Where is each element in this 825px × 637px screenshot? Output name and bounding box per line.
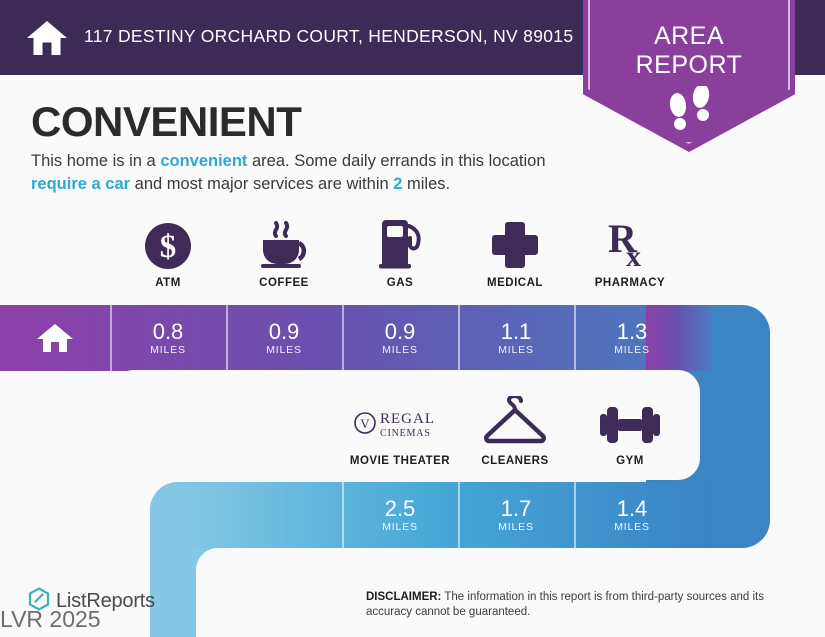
amenity-gas: GAS <box>342 218 458 289</box>
amenity-icon-row-2: V REGAL CINEMAS MOVIE THEATER CLEANERS <box>342 396 688 482</box>
distance-bar-row-2: 2.5 MILES 1.7 MILES 1.4 MILES <box>150 482 770 548</box>
amenity-label: COFFEE <box>226 277 342 289</box>
coffee-cup-icon <box>226 218 342 270</box>
distance-cell-gas: 0.9 MILES <box>342 305 458 371</box>
summary-part-2: area. Some daily errands in this locatio… <box>247 152 545 170</box>
property-address: 117 DESTINY ORCHARD COURT, HENDERSON, NV… <box>84 26 573 47</box>
summary-part-3: and most major services are within <box>130 175 393 193</box>
summary-highlight-require-a-car: require a car <box>31 175 130 193</box>
clothes-hanger-icon <box>457 396 573 448</box>
amenity-label: GYM <box>572 455 688 467</box>
svg-text:x: x <box>626 240 641 270</box>
footprints-icon <box>655 86 725 132</box>
badge-line-2: REPORT <box>583 51 795 80</box>
amenity-label: ATM <box>110 277 226 289</box>
svg-text:REGAL: REGAL <box>380 411 435 427</box>
gas-pump-icon <box>342 218 458 270</box>
distance-value: 1.3 <box>617 320 648 343</box>
distance-value: 0.9 <box>385 320 416 343</box>
distance-value: 2.5 <box>385 497 416 520</box>
distance-cell-movie-theater: 2.5 MILES <box>342 482 458 548</box>
summary-part-4: miles. <box>402 175 450 193</box>
distance-cell-coffee: 0.9 MILES <box>226 305 342 371</box>
distance-value: 1.4 <box>617 497 648 520</box>
amenity-pharmacy: R x PHARMACY <box>572 218 688 289</box>
amenity-gym: GYM <box>572 396 688 467</box>
amenity-label: GAS <box>342 277 458 289</box>
distance-unit: MILES <box>266 344 302 356</box>
distance-unit: MILES <box>150 344 186 356</box>
summary-highlight-convenient: convenient <box>160 152 247 170</box>
distance-unit: MILES <box>614 521 650 533</box>
amenity-icon-row-1: $ ATM COFFEE <box>110 218 688 303</box>
amenity-coffee: COFFEE <box>226 218 342 289</box>
dumbbell-icon <box>572 396 688 448</box>
svg-text:CINEMAS: CINEMAS <box>380 428 431 439</box>
amenity-label: MEDICAL <box>457 277 573 289</box>
amenity-movie-theater: V REGAL CINEMAS MOVIE THEATER <box>342 396 458 467</box>
distance-value: 1.1 <box>501 320 532 343</box>
distance-unit: MILES <box>614 344 650 356</box>
dollar-circle-icon: $ <box>110 218 226 270</box>
disclaimer: DISCLAIMER: The information in this repo… <box>366 590 796 620</box>
home-icon <box>36 321 74 355</box>
amenity-label: PHARMACY <box>572 277 688 289</box>
distance-value: 1.7 <box>501 497 532 520</box>
distance-cell-pharmacy: 1.3 MILES <box>574 305 690 371</box>
distance-cell-atm: 0.8 MILES <box>110 305 226 371</box>
distance-unit: MILES <box>498 344 534 356</box>
summary-part-1: This home is in a <box>31 152 160 170</box>
badge-line-1: AREA <box>583 22 795 51</box>
amenity-cleaners: CLEANERS <box>457 396 573 467</box>
distance-value: 0.9 <box>269 320 300 343</box>
amenity-label: CLEANERS <box>457 455 573 467</box>
amenity-medical: MEDICAL <box>457 218 573 289</box>
distance-value: 0.8 <box>153 320 184 343</box>
disclaimer-label: DISCLAIMER: <box>366 591 441 603</box>
area-report-page: 117 DESTINY ORCHARD COURT, HENDERSON, NV… <box>0 0 825 637</box>
medical-cross-icon <box>457 218 573 270</box>
rx-icon: R x <box>572 218 688 270</box>
distance-cell-medical: 1.1 MILES <box>458 305 574 371</box>
distance-unit: MILES <box>498 521 534 533</box>
amenity-atm: $ ATM <box>110 218 226 289</box>
distance-unit: MILES <box>382 521 418 533</box>
amenity-label: MOVIE THEATER <box>342 455 458 467</box>
distance-cell-gym: 1.4 MILES <box>574 482 690 548</box>
distance-cell-cleaners: 1.7 MILES <box>458 482 574 548</box>
page-title: CONVENIENT <box>31 98 301 146</box>
svg-text:$: $ <box>160 229 177 265</box>
svg-text:V: V <box>360 416 370 431</box>
badge-label: AREA REPORT <box>583 22 795 80</box>
regal-cinemas-logo: V REGAL CINEMAS <box>342 396 458 448</box>
summary-text: This home is in a convenient area. Some … <box>31 150 561 196</box>
watermark: LVR 2025 <box>0 606 101 633</box>
distance-unit: MILES <box>382 344 418 356</box>
home-icon <box>25 16 69 60</box>
distance-bar-row-1: 0.8 MILES 0.9 MILES 0.9 MILES 1.1 MILES … <box>0 305 710 371</box>
